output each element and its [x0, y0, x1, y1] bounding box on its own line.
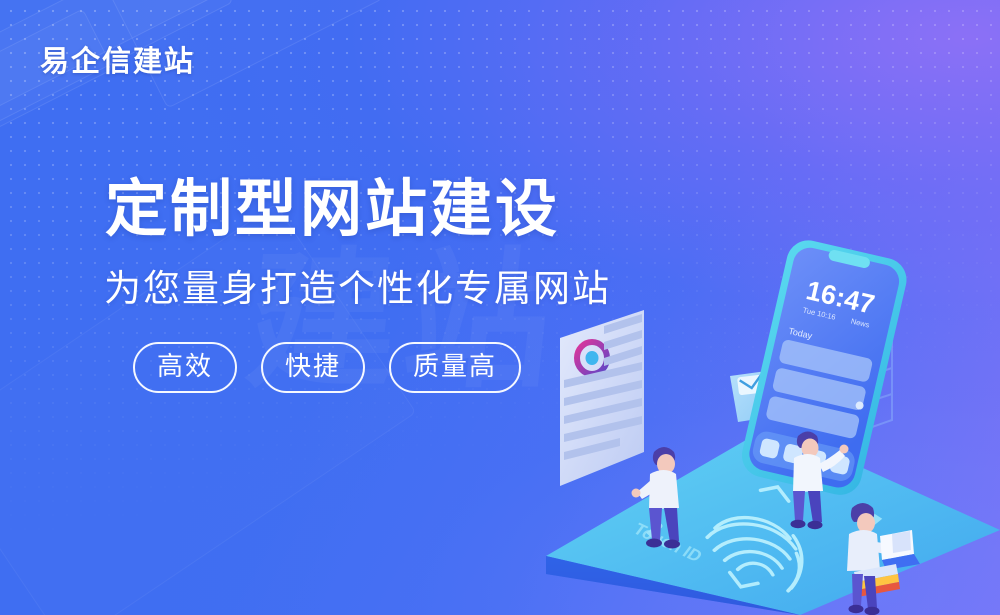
feature-tag-list: 高效 快捷 质量高	[133, 342, 521, 393]
site-logo[interactable]: 易企信建站	[40, 38, 195, 80]
smartphone: 16:47 Tue 10:16 News Today	[738, 236, 911, 499]
hero-illustration: Touch ID	[500, 230, 1000, 615]
hero-banner: 建站 易企信建站 定制型网站建设 为您量身打造个性化专属网站 高效 快捷 质量高	[0, 0, 1000, 615]
page-title: 定制型网站建设	[105, 158, 560, 248]
feature-tag-2[interactable]: 快捷	[261, 342, 365, 393]
document-panel	[560, 310, 644, 486]
feature-tag-1[interactable]: 高效	[133, 342, 237, 393]
